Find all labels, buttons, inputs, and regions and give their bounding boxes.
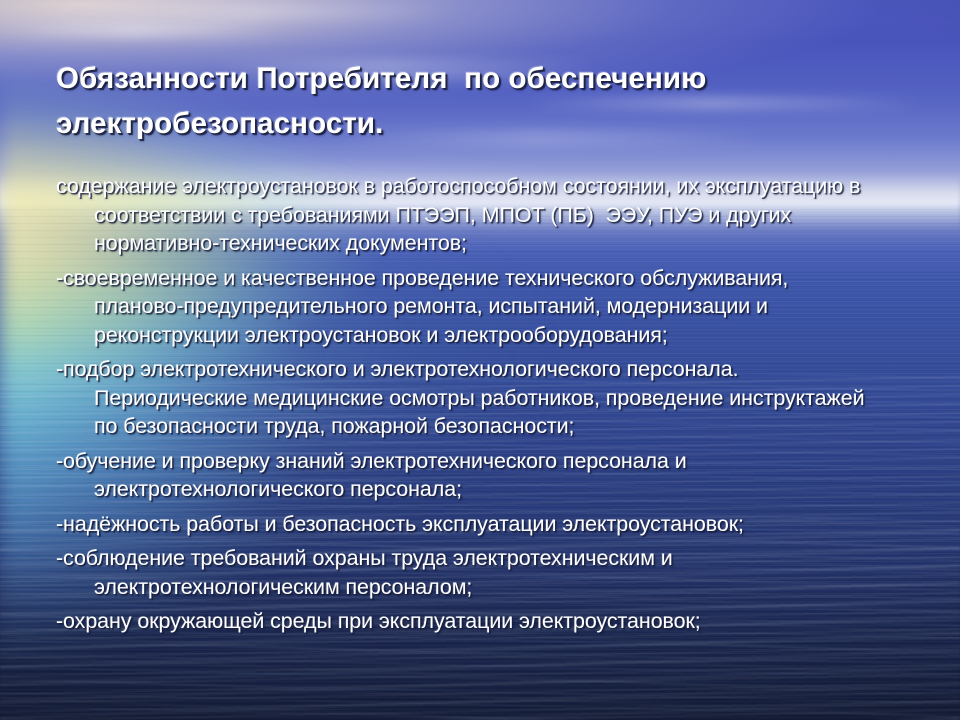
- body-paragraph: содержание электроустановок в работоспос…: [56, 172, 932, 258]
- body-line-first: содержание электроустановок в работоспос…: [56, 172, 932, 201]
- slide-title-line: электробезопасности.: [56, 101, 916, 146]
- body-paragraph: -обучение и проверку знаний электротехни…: [56, 447, 932, 504]
- body-paragraph: -подбор электротехнического и электротех…: [56, 355, 932, 441]
- body-line-continuation: реконструкции электроустановок и электро…: [56, 321, 932, 350]
- body-line-first: -надёжность работы и безопасность эксплу…: [56, 510, 932, 539]
- body-line-first: -охрану окружающей среды при эксплуатаци…: [56, 607, 932, 636]
- body-paragraph: -охрану окружающей среды при эксплуатаци…: [56, 607, 932, 636]
- body-line-continuation: соответствии с требованиями ПТЭЭП, МПОТ …: [56, 201, 932, 230]
- slide-body: содержание электроустановок в работоспос…: [56, 172, 932, 636]
- body-line-continuation: по безопасности труда, пожарной безопасн…: [56, 412, 932, 441]
- slide-content: Обязанности Потребителя по обеспечению э…: [0, 0, 960, 720]
- slide-title: Обязанности Потребителя по обеспечению э…: [56, 56, 916, 146]
- body-line-continuation: электротехнологическим персоналом;: [56, 573, 932, 602]
- body-paragraph: -соблюдение требований охраны труда элек…: [56, 544, 932, 601]
- slide-title-line: Обязанности Потребителя по обеспечению: [56, 56, 916, 101]
- slide-canvas: Обязанности Потребителя по обеспечению э…: [0, 0, 960, 720]
- body-line-continuation: нормативно-технических документов;: [56, 229, 932, 258]
- body-paragraph: -надёжность работы и безопасность эксплу…: [56, 510, 932, 539]
- body-line-first: -обучение и проверку знаний электротехни…: [56, 447, 932, 476]
- body-line-first: -соблюдение требований охраны труда элек…: [56, 544, 932, 573]
- body-line-first: -подбор электротехнического и электротех…: [56, 355, 932, 384]
- body-line-continuation: электротехнологического персонала;: [56, 475, 932, 504]
- body-line-continuation: Периодические медицинские осмотры работн…: [56, 384, 932, 413]
- body-line-continuation: планово-предупредительного ремонта, испы…: [56, 292, 932, 321]
- body-paragraph: -своевременное и качественное проведение…: [56, 264, 932, 350]
- body-line-first: -своевременное и качественное проведение…: [56, 264, 932, 293]
